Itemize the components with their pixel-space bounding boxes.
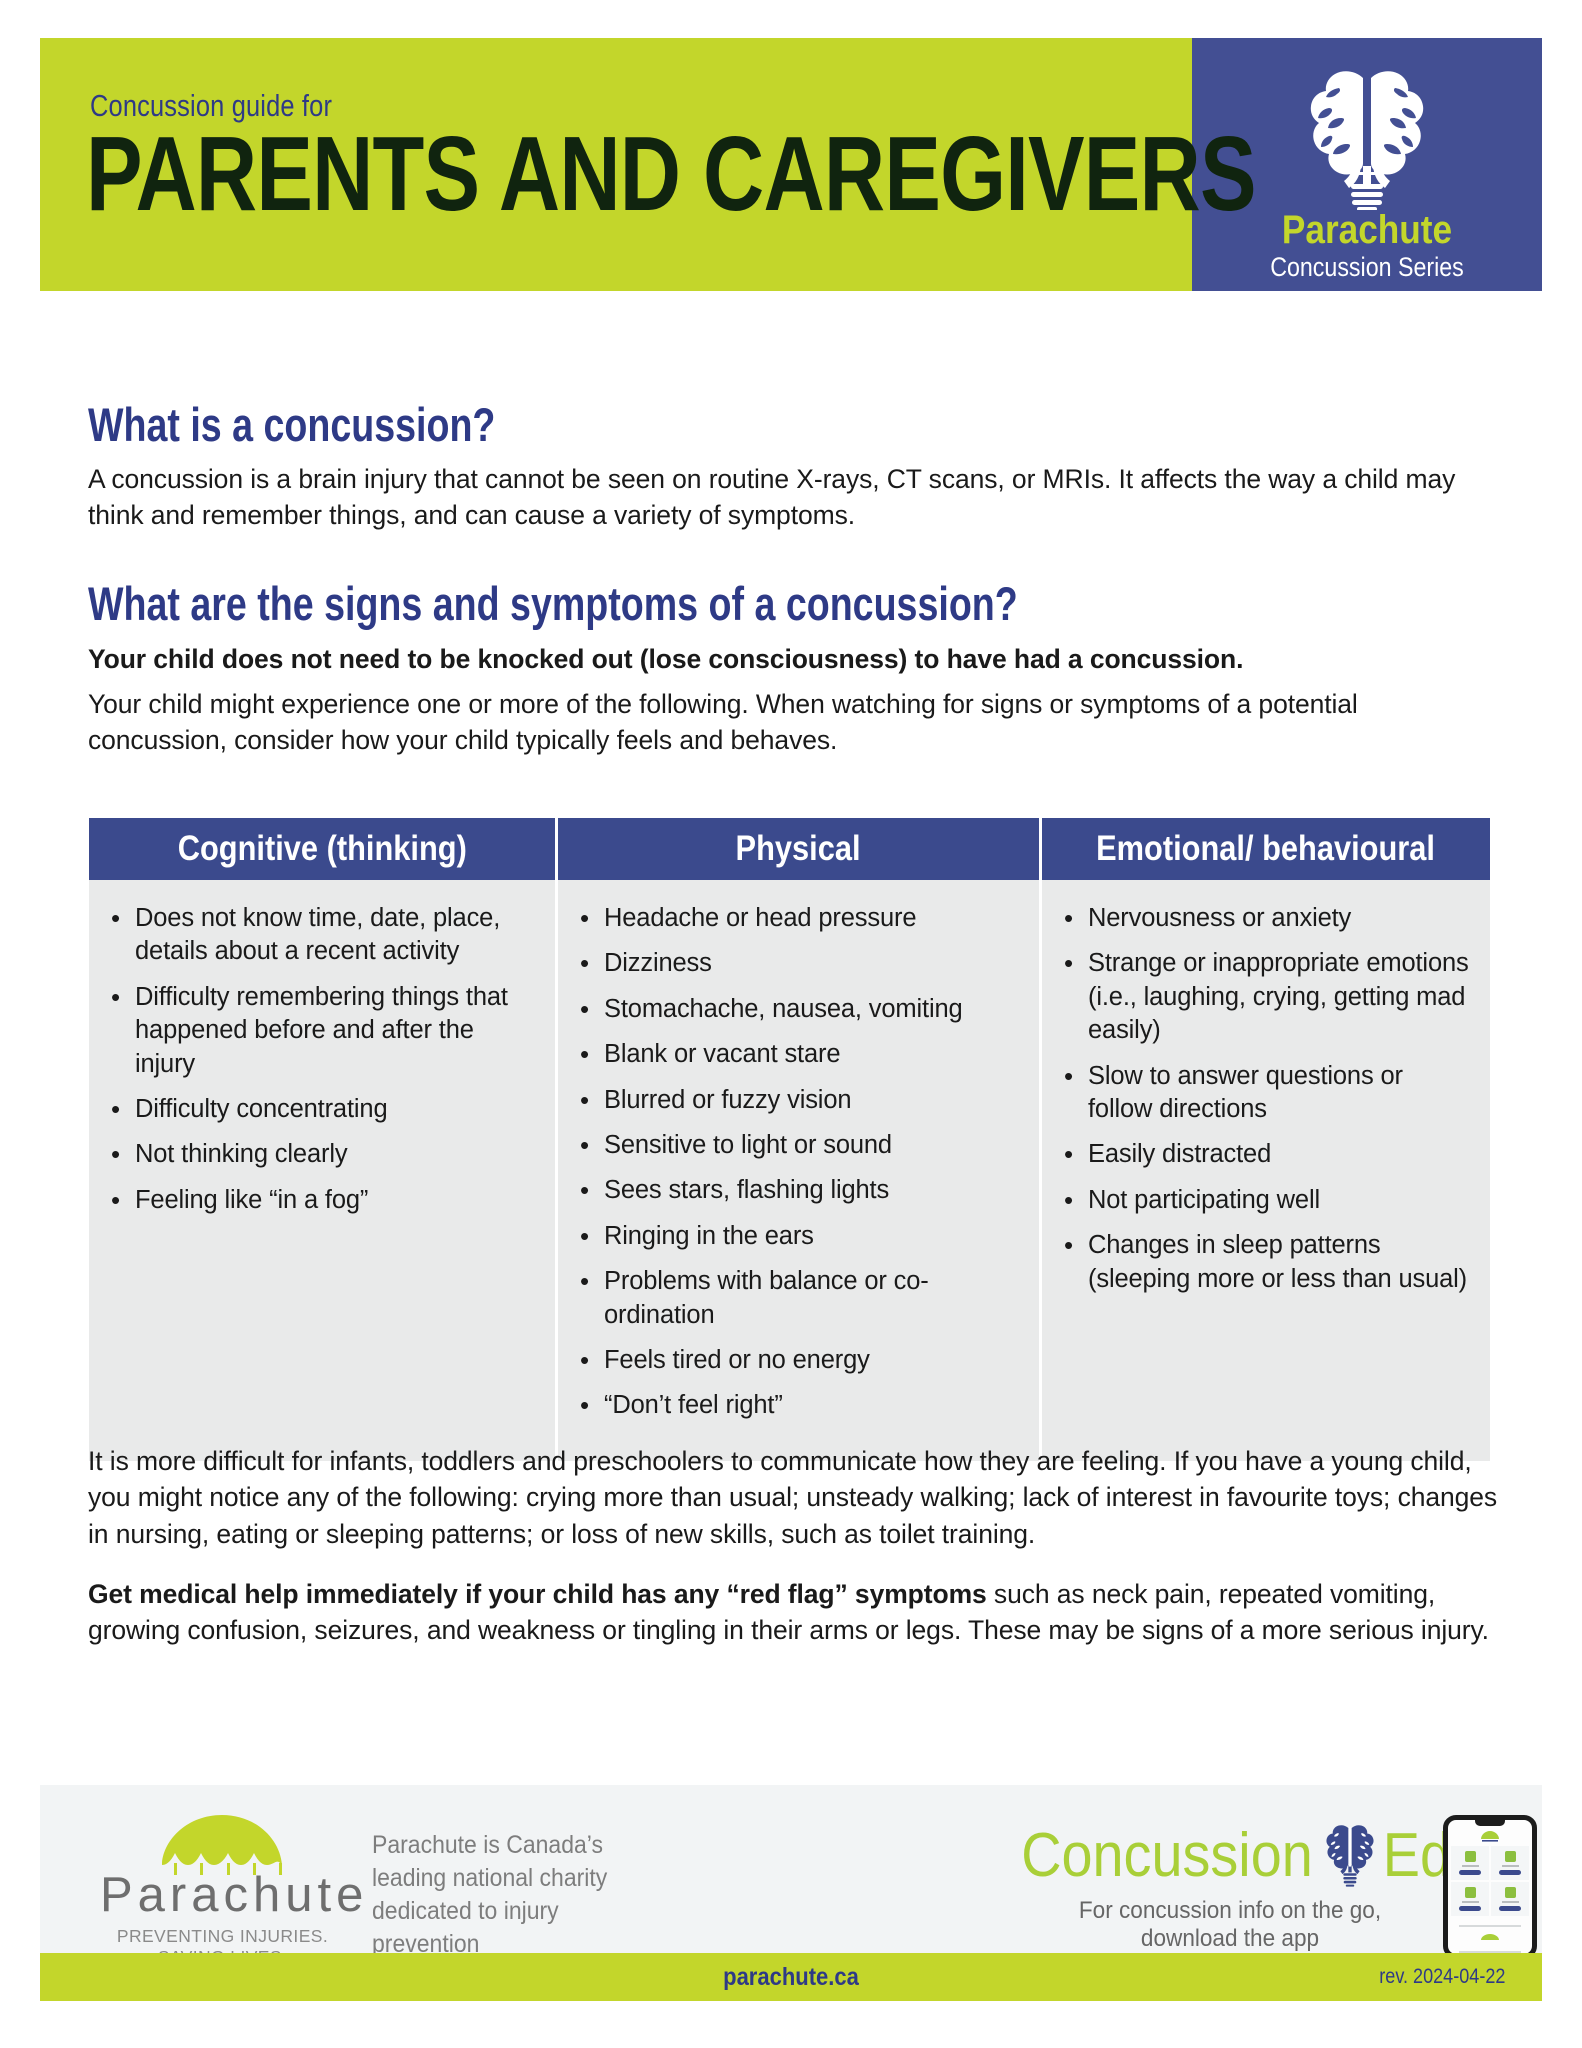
list-item: Problems with balance or co-ordination — [604, 1265, 1021, 1332]
phone-footer-logo-icon — [1479, 1933, 1501, 1943]
paragraph-red-flags: Get medical help immediately if your chi… — [88, 1576, 1498, 1649]
table-column-header-emotional: Emotional/ behavioural — [1042, 818, 1490, 880]
bottom-bar: parachute.ca rev. 2024-04-22 — [40, 1953, 1542, 2001]
list-item: “Don’t feel right” — [604, 1389, 1021, 1422]
paragraph-young-children: It is more difficult for infants, toddle… — [88, 1443, 1498, 1552]
logo-wordmark: Parachute — [1213, 208, 1521, 253]
list-item: Not participating well — [1088, 1184, 1472, 1217]
section-heading-what-is: What is a concussion? — [88, 400, 1213, 449]
list-item: Does not know time, date, place, details… — [135, 902, 537, 969]
list-item: Sensitive to light or sound — [604, 1129, 1021, 1162]
table-header-label: Physical — [736, 829, 861, 869]
list-item: Changes in sleep patterns (sleeping more… — [1088, 1229, 1472, 1296]
parachute-footer-wordmark: Parachute — [100, 1871, 345, 1920]
bed-icon — [1465, 1887, 1476, 1898]
table-column-body-physical: Headache or head pressure Dizziness Stom… — [558, 880, 1039, 1461]
brain-lightbulb-small-icon — [1319, 1817, 1381, 1896]
list-item: Stomachache, nausea, vomiting — [604, 993, 1021, 1026]
list-item: Feeling like “in a fog” — [135, 1184, 537, 1217]
table-column-physical: Physical Headache or head pressure Dizzi… — [555, 818, 1042, 1461]
list-item: Dizziness — [604, 947, 1021, 980]
concussion-ed-block: Concussion — [1050, 1817, 1410, 1953]
section-paragraph-what-is: A concussion is a brain injury that cann… — [88, 462, 1494, 533]
phone-tile — [1491, 1846, 1529, 1880]
symptom-list-cognitive: Does not know time, date, place, details… — [105, 902, 537, 1217]
revision-date: rev. 2024-04-22 — [1380, 1953, 1506, 2001]
app-download-caption: For concussion info on the go, download … — [1061, 1897, 1399, 1953]
list-item: Blank or vacant stare — [604, 1038, 1021, 1071]
list-item: Blurred or fuzzy vision — [604, 1084, 1021, 1117]
list-item: Headache or head pressure — [604, 902, 1021, 935]
lightbulb-icon — [1505, 1851, 1516, 1862]
charity-description: Parachute is Canada’s leading national c… — [372, 1829, 648, 1961]
list-item: Difficulty concentrating — [135, 1093, 537, 1126]
document-page: Concussion guide for PARENTS AND CAREGIV… — [0, 0, 1582, 2048]
table-header-label: Emotional/ behavioural — [1097, 829, 1436, 869]
phone-notch — [1475, 1820, 1505, 1826]
list-item: Slow to answer questions or follow direc… — [1088, 1060, 1472, 1127]
list-item: Ringing in the ears — [604, 1220, 1021, 1253]
list-item: Strange or inappropriate emotions (i.e.,… — [1088, 947, 1472, 1047]
table-column-emotional: Emotional/ behavioural Nervousness or an… — [1042, 818, 1490, 1461]
phone-tile — [1451, 1846, 1489, 1880]
signs-lead-bold: Your child does not need to be knocked o… — [88, 644, 1243, 674]
closing-paragraphs: It is more difficult for infants, toddle… — [88, 1443, 1498, 1672]
list-item: Difficulty remembering things that happe… — [135, 981, 537, 1081]
table-column-body-cognitive: Does not know time, date, place, details… — [89, 880, 555, 1255]
concussion-ed-word-1: Concussion — [1021, 1825, 1313, 1887]
logo-series-label: Concussion Series — [1217, 252, 1518, 283]
hand-icon — [1465, 1851, 1476, 1862]
table-column-header-physical: Physical — [558, 818, 1039, 880]
phone-tile — [1491, 1882, 1529, 1916]
red-flag-bold: Get medical help immediately if your chi… — [88, 1579, 987, 1609]
phone-app-tiles — [1448, 1844, 1532, 1918]
brain-lightbulb-icon — [1293, 60, 1441, 215]
app-phone-mockup — [1443, 1815, 1537, 1959]
document-header: Concussion guide for PARENTS AND CAREGIV… — [40, 38, 1542, 291]
symptom-list-emotional: Nervousness or anxiety Strange or inappr… — [1058, 902, 1472, 1296]
parachute-canopy-icon — [130, 1813, 315, 1875]
table-column-cognitive: Cognitive (thinking) Does not know time,… — [89, 818, 555, 1461]
parachute-footer-logo: Parachute PREVENTING INJURIES. SAVING LI… — [100, 1813, 345, 1968]
list-item: Easily distracted — [1088, 1138, 1472, 1171]
list-item: Sees stars, flashing lights — [604, 1174, 1021, 1207]
symptoms-table: Cognitive (thinking) Does not know time,… — [88, 817, 1492, 1462]
phone-app-logo-icon — [1479, 1830, 1501, 1842]
section-heading-signs-symptoms: What are the signs and symptoms of a con… — [88, 579, 1213, 628]
table-column-header-cognitive: Cognitive (thinking) — [89, 818, 555, 880]
backpack-icon — [1505, 1887, 1516, 1898]
symptom-list-physical: Headache or head pressure Dizziness Stom… — [574, 902, 1021, 1423]
phone-tile — [1451, 1882, 1489, 1916]
website-url[interactable]: parachute.ca — [130, 1953, 1452, 2001]
table-column-body-emotional: Nervousness or anxiety Strange or inappr… — [1042, 880, 1490, 1358]
document-footer: Parachute PREVENTING INJURIES. SAVING LI… — [40, 1785, 1542, 1953]
concussion-ed-word-2: Ed — [1383, 1825, 1451, 1887]
list-item: Feels tired or no energy — [604, 1344, 1021, 1377]
table-header-label: Cognitive (thinking) — [177, 829, 466, 869]
page-title: PARENTS AND CAREGIVERS — [86, 126, 1256, 224]
list-item: Not thinking clearly — [135, 1138, 537, 1171]
list-item: Nervousness or anxiety — [1088, 902, 1472, 935]
parachute-logo-block: Parachute Concussion Series — [1192, 38, 1542, 291]
main-content: What is a concussion? A concussion is a … — [88, 400, 1494, 768]
signs-lead-rest: Your child might experience one or more … — [88, 687, 1494, 758]
